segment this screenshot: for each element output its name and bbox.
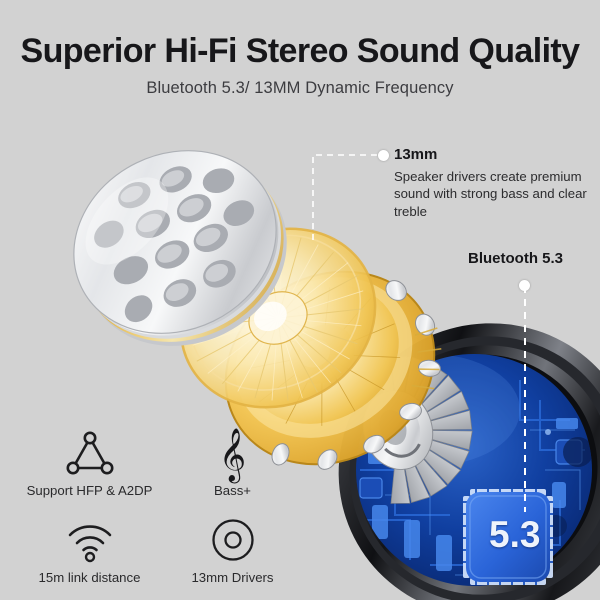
page-subtitle: Bluetooth 5.3/ 13MM Dynamic Frequency xyxy=(0,79,600,98)
feature-row: Support HFP & A2DP 𝄞 Bass+ xyxy=(18,424,318,497)
feature-label: 13mm Drivers xyxy=(161,571,304,584)
feature-row: 15m link distance 13mm Drivers xyxy=(18,511,318,584)
treble-clef-glyph: 𝄞 xyxy=(219,432,246,476)
feature-item-drivers: 13mm Drivers xyxy=(161,511,304,584)
callout-bluetooth: Bluetooth 5.3 xyxy=(468,250,600,269)
wifi-signal-icon xyxy=(18,511,161,563)
feature-label: Bass+ xyxy=(161,484,304,497)
chip-label: 5.3 xyxy=(489,516,540,553)
feature-item-link-distance: 15m link distance xyxy=(18,511,161,584)
callout-bluetooth-title: Bluetooth 5.3 xyxy=(468,250,600,269)
callout-13mm: 13mm Speaker drivers create premium soun… xyxy=(394,146,594,220)
callout-13mm-body: Speaker drivers create premium sound wit… xyxy=(394,168,594,221)
feature-item-hfp-a2dp: Support HFP & A2DP xyxy=(18,424,161,497)
network-triangle-icon xyxy=(18,424,161,476)
callout-dot-bluetooth xyxy=(519,280,530,291)
treble-clef-icon: 𝄞 xyxy=(161,424,304,476)
callout-13mm-title: 13mm xyxy=(394,146,594,165)
page-title: Superior Hi-Fi Stereo Sound Quality xyxy=(0,32,600,71)
product-infographic: Superior Hi-Fi Stereo Sound Quality Blue… xyxy=(0,0,600,600)
callout-dot-13mm xyxy=(378,150,389,161)
speaker-driver-icon xyxy=(161,511,304,563)
feature-label: Support HFP & A2DP xyxy=(18,484,161,497)
feature-item-bass: 𝄞 Bass+ xyxy=(161,424,304,497)
feature-label: 15m link distance xyxy=(18,571,161,584)
feature-list: Support HFP & A2DP 𝄞 Bass+ xyxy=(18,424,318,584)
